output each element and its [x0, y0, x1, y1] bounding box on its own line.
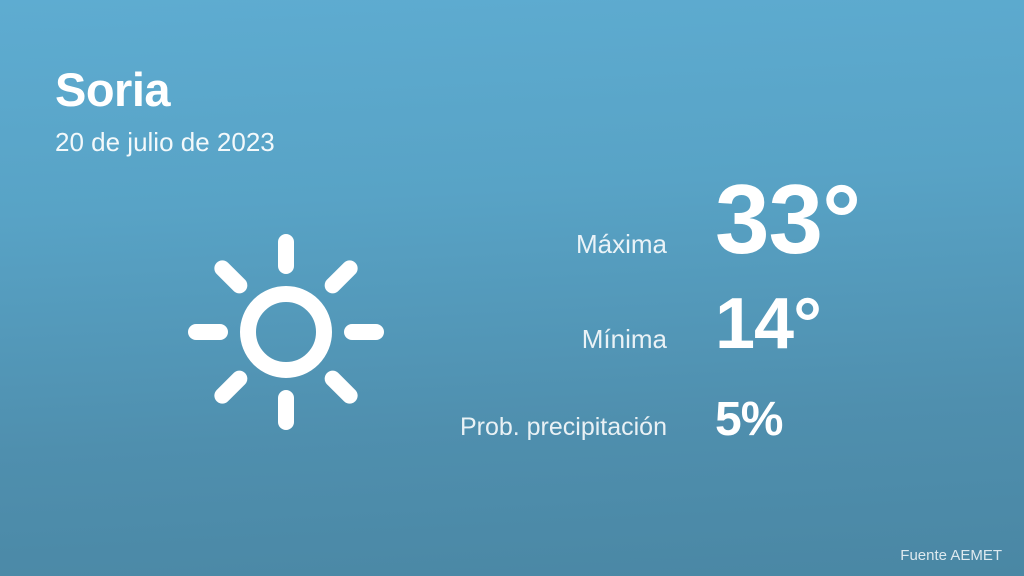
forecast-date: 20 de julio de 2023 — [55, 129, 275, 155]
reading-label: Prob. precipitación — [400, 413, 667, 442]
page-title: Soria — [55, 66, 275, 113]
reading-value: 14° — [667, 288, 821, 360]
weather-card: Soria 20 de julio de 2023 Máxima 33° — [0, 0, 1024, 576]
reading-row-minima: Mínima 14° — [400, 288, 960, 396]
reading-row-precipitacion: Prob. precipitación 5% — [400, 396, 960, 456]
reading-label: Máxima — [400, 229, 667, 260]
readings-list: Máxima 33° Mínima 14° Prob. precipitació… — [400, 170, 960, 456]
weather-condition-icon — [166, 212, 406, 452]
header: Soria 20 de julio de 2023 — [55, 66, 275, 155]
reading-label: Mínima — [400, 324, 667, 355]
reading-value: 5% — [667, 396, 782, 444]
reading-value: 33° — [667, 170, 860, 268]
reading-row-maxima: Máxima 33° — [400, 170, 960, 288]
source-attribution: Fuente AEMET — [900, 547, 1002, 564]
